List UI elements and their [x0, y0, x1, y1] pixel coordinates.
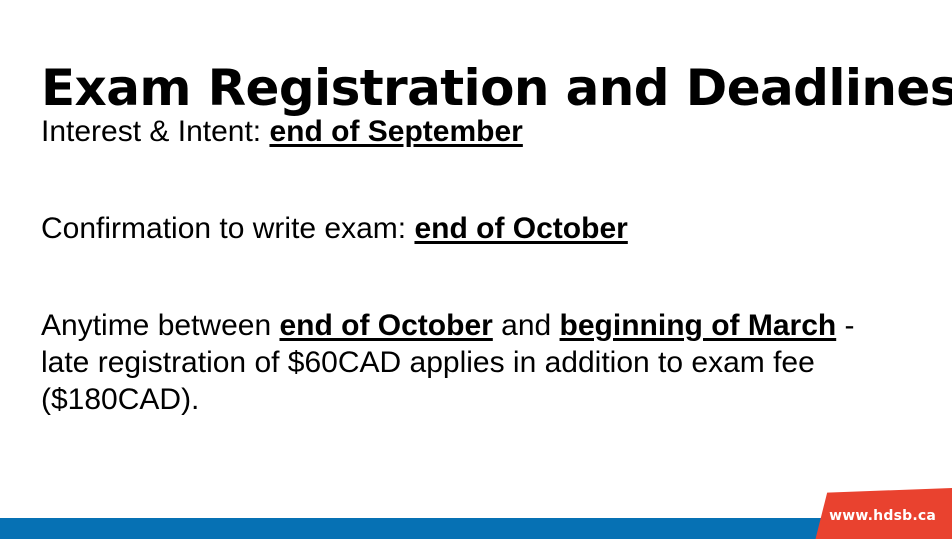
slide-canvas: Exam Registration and Deadlines Interest… [0, 0, 952, 539]
paragraph-spacer [41, 150, 903, 210]
paragraph-late-registration: Anytime between end of October and begin… [41, 307, 903, 418]
paragraph-interest-intent: Interest & Intent: end of September [41, 113, 903, 150]
paragraph-conjunction-text: and [493, 309, 560, 342]
paragraph-confirmation: Confirmation to write exam: end of Octob… [41, 210, 903, 247]
slide-body: Interest & Intent: end of September Conf… [41, 113, 903, 418]
paragraph-spacer [41, 247, 903, 307]
deadline-emphasis-october: end of October [414, 212, 627, 245]
paragraph-lead-text: Interest & Intent: [41, 115, 269, 148]
deadline-emphasis-march-range-end: beginning of March [560, 309, 837, 342]
deadline-emphasis-october-range-start: end of October [279, 309, 492, 342]
page-title: Exam Registration and Deadlines [41, 61, 921, 115]
deadline-emphasis-september: end of September [269, 115, 522, 148]
paragraph-lead-text: Confirmation to write exam: [41, 212, 414, 245]
paragraph-lead-text: Anytime between [41, 309, 279, 342]
footer-website-url: www.hdsb.ca [806, 508, 944, 524]
